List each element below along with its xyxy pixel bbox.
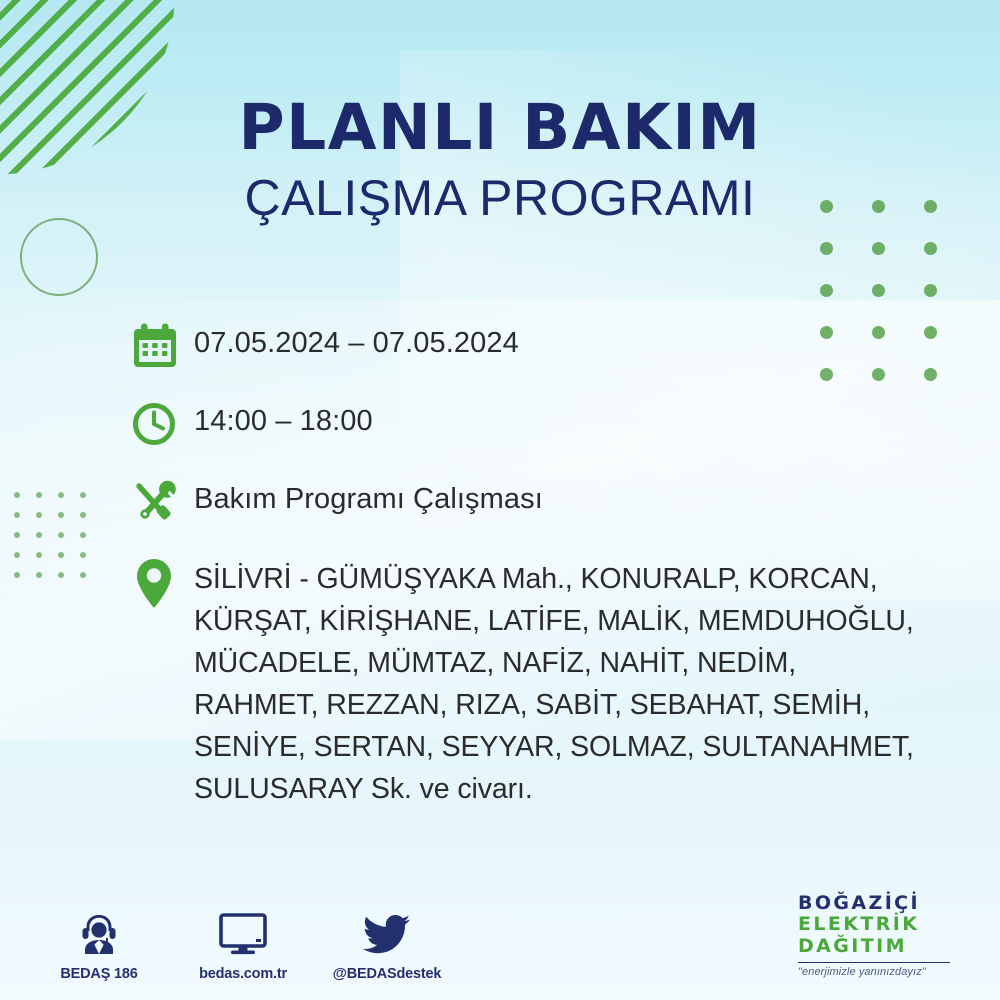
date-range-value: 07.05.2024 – 07.05.2024 <box>194 320 519 358</box>
detail-row-time: 14:00 – 18:00 <box>132 398 972 454</box>
clock-icon <box>132 398 194 454</box>
monitor-icon <box>188 909 298 957</box>
dot <box>80 492 86 498</box>
contact-twitter-label: @BEDASdestek <box>332 966 442 982</box>
outage-details: 07.05.2024 – 07.05.2024 14:00 – 18:00 <box>132 320 972 810</box>
logo-line-elektrik: ELEKTRİK <box>798 914 978 935</box>
twitter-bird-icon <box>332 909 442 957</box>
detail-row-date: 07.05.2024 – 07.05.2024 <box>132 320 972 376</box>
page-title: PLANLI BAKIM <box>0 96 1000 159</box>
address-line: MÜCADELE, MÜMTAZ, NAFİZ, NAHİT, NEDİM, <box>194 642 914 684</box>
bedas-logo: BOĞAZİÇİ ELEKTRİK DAĞITIM "enerjimizle y… <box>798 893 978 978</box>
dot <box>924 242 937 255</box>
logo-divider <box>798 962 950 963</box>
dot <box>58 532 64 538</box>
dot <box>58 492 64 498</box>
address-line: SENİYE, SERTAN, SEYYAR, SOLMAZ, SULTANAH… <box>194 726 914 768</box>
planned-maintenance-poster: PLANLI BAKIM ÇALIŞMA PROGRAMI <box>0 0 1000 1000</box>
dot <box>820 284 833 297</box>
dot-grid-decoration-left <box>14 492 102 592</box>
headset-operator-icon <box>44 909 154 957</box>
logo-line-dagitim: DAĞITIM <box>798 936 978 957</box>
footer-contacts: BEDAŞ 186 bedas.com.tr @BEDASdestek <box>44 909 442 982</box>
poster-header: PLANLI BAKIM ÇALIŞMA PROGRAMI <box>0 96 1000 223</box>
contact-website[interactable]: bedas.com.tr <box>188 909 298 982</box>
address-line: SULUSARAY Sk. ve civarı. <box>194 768 914 810</box>
logo-line-bogazici: BOĞAZİÇİ <box>798 893 978 914</box>
dot <box>14 572 20 578</box>
dot <box>36 572 42 578</box>
dot <box>820 242 833 255</box>
detail-row-address: SİLİVRİ - GÜMÜŞYAKA Mah., KONURALP, KORC… <box>132 554 972 810</box>
tools-icon <box>132 476 194 532</box>
dot <box>14 492 20 498</box>
logo-tagline: "enerjimizle yanınızdayız" <box>798 966 978 978</box>
work-description-value: Bakım Programı Çalışması <box>194 476 543 514</box>
contact-twitter[interactable]: @BEDASdestek <box>332 909 442 982</box>
dot <box>58 512 64 518</box>
dot <box>14 512 20 518</box>
location-pin-icon <box>132 554 194 612</box>
address-line: KÜRŞAT, KİRİŞHANE, LATİFE, MALİK, MEMDUH… <box>194 600 914 642</box>
dot <box>36 512 42 518</box>
dot <box>872 242 885 255</box>
dot <box>80 512 86 518</box>
time-range-value: 14:00 – 18:00 <box>194 398 373 436</box>
dot <box>924 284 937 297</box>
dot <box>58 552 64 558</box>
dot <box>872 284 885 297</box>
address-value: SİLİVRİ - GÜMÜŞYAKA Mah., KONURALP, KORC… <box>194 554 914 810</box>
dot <box>36 492 42 498</box>
dot <box>80 552 86 558</box>
calendar-icon <box>132 320 194 376</box>
contact-website-label: bedas.com.tr <box>188 966 298 982</box>
dot <box>36 552 42 558</box>
dot <box>80 532 86 538</box>
detail-row-work: Bakım Programı Çalışması <box>132 476 972 532</box>
contact-phone-label: BEDAŞ 186 <box>44 966 154 982</box>
dot <box>14 552 20 558</box>
address-line: SİLİVRİ - GÜMÜŞYAKA Mah., KONURALP, KORC… <box>194 558 914 600</box>
page-subtitle: ÇALIŞMA PROGRAMI <box>0 173 1000 223</box>
address-line: RAHMET, REZZAN, RIZA, SABİT, SEBAHAT, SE… <box>194 684 914 726</box>
dot <box>80 572 86 578</box>
circle-outline-decoration <box>20 218 98 296</box>
dot <box>14 532 20 538</box>
dot <box>36 532 42 538</box>
dot <box>58 572 64 578</box>
contact-phone[interactable]: BEDAŞ 186 <box>44 909 154 982</box>
